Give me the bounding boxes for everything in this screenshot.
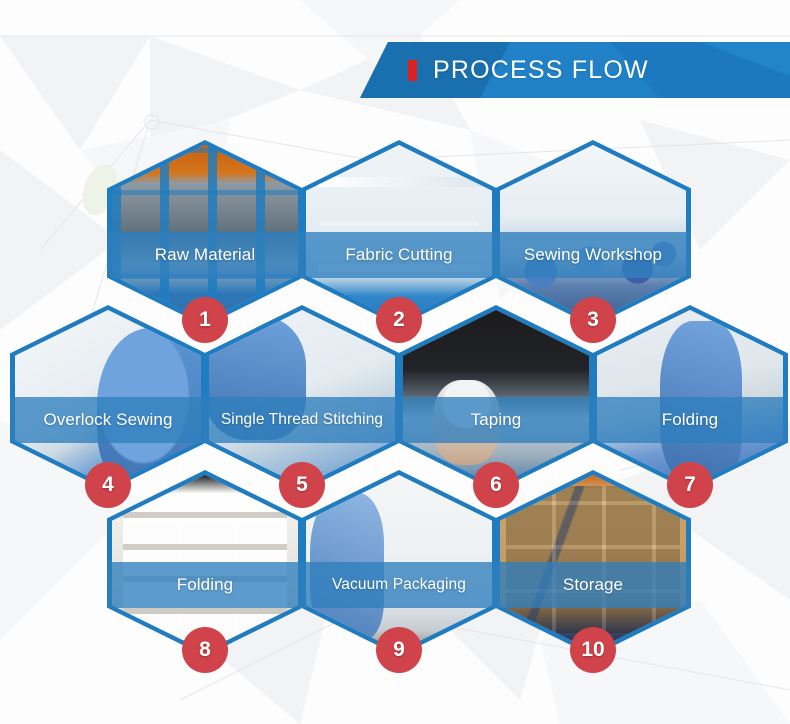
step-photo-vacuum-packaging <box>306 475 492 651</box>
process-step-5[interactable]: Single Thread Stitching 5 <box>204 305 400 491</box>
process-step-4[interactable]: Overlock Sewing 4 <box>10 305 206 491</box>
banner-accent-mark <box>408 60 417 81</box>
step-photo-folding-packed <box>112 475 298 651</box>
process-step-10[interactable]: Storage 10 <box>495 470 691 656</box>
step-number-badge: 10 <box>570 627 616 673</box>
step-number-badge: 7 <box>667 462 713 508</box>
step-number-badge: 2 <box>376 297 422 343</box>
process-flow-infographic: PROCESS FLOW Raw Material 1 Fab <box>0 0 790 724</box>
process-step-1[interactable]: Raw Material 1 <box>107 140 303 326</box>
step-photo-rack <box>112 145 298 321</box>
step-photo-cutting-room <box>306 145 492 321</box>
process-step-8[interactable]: Folding 8 <box>107 470 303 656</box>
step-number-badge: 4 <box>85 462 131 508</box>
process-step-grid: Raw Material 1 Fabric Cutting 2 <box>0 0 790 724</box>
step-photo-folding <box>597 310 783 486</box>
step-number-badge: 3 <box>570 297 616 343</box>
process-step-2[interactable]: Fabric Cutting 2 <box>301 140 497 326</box>
step-number-badge: 9 <box>376 627 422 673</box>
step-photo-storage-warehouse <box>500 475 686 651</box>
step-photo-overlock-sewing <box>15 310 201 486</box>
step-photo-taping <box>403 310 589 486</box>
step-number-badge: 6 <box>473 462 519 508</box>
process-step-6[interactable]: Taping 6 <box>398 305 594 491</box>
page-title: PROCESS FLOW <box>433 56 649 85</box>
step-number-badge: 1 <box>182 297 228 343</box>
step-number-badge: 5 <box>279 462 325 508</box>
step-number-badge: 8 <box>182 627 228 673</box>
step-photo-single-thread-stitching <box>209 310 395 486</box>
header-banner: PROCESS FLOW <box>360 42 790 98</box>
process-step-9[interactable]: Vacuum Packaging 9 <box>301 470 497 656</box>
banner-content: PROCESS FLOW <box>360 42 790 98</box>
step-photo-sewing-workshop <box>500 145 686 321</box>
process-step-7[interactable]: Folding 7 <box>592 305 788 491</box>
process-step-3[interactable]: Sewing Workshop 3 <box>495 140 691 326</box>
